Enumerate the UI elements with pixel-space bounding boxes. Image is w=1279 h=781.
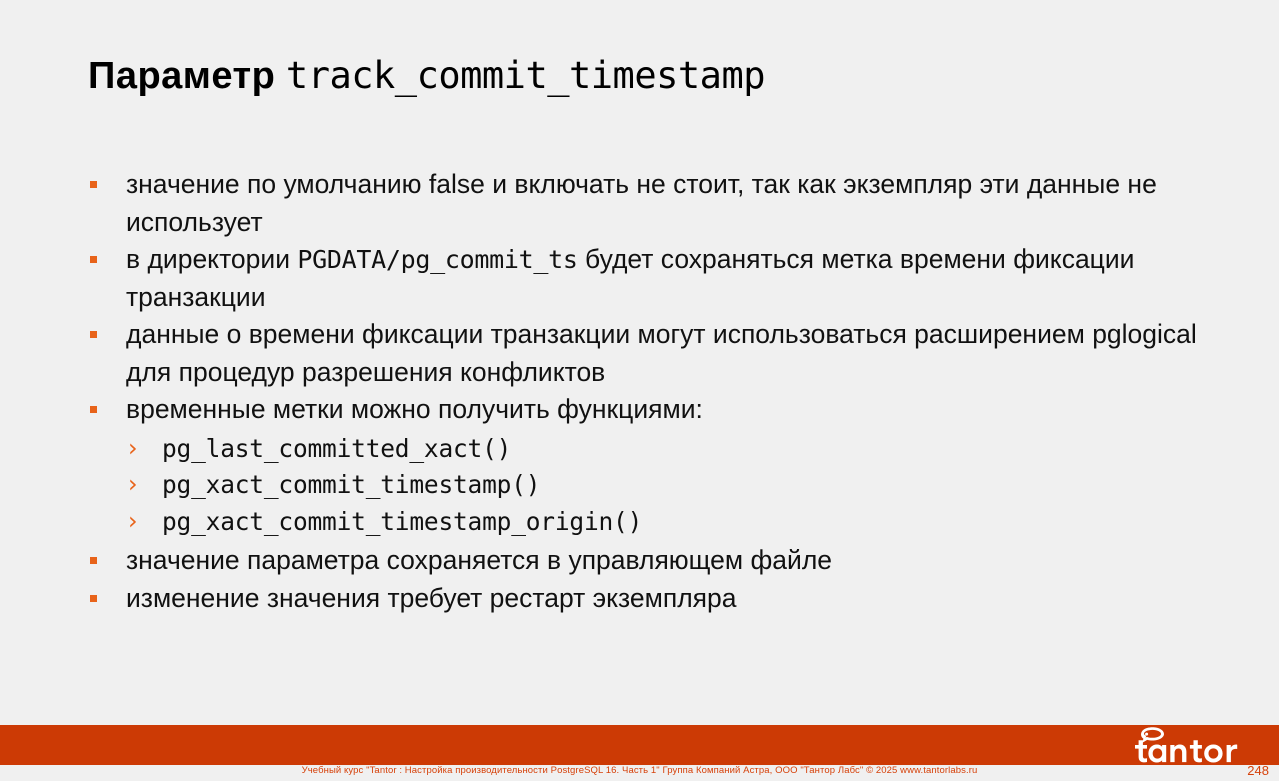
inline-text: значение параметра сохраняется в управля… bbox=[126, 545, 832, 575]
bullet-item: значение параметра сохраняется в управля… bbox=[84, 542, 1204, 580]
chevron-right-icon: › bbox=[128, 504, 138, 540]
bullet-text: данные о времени фиксации транзакции мог… bbox=[126, 316, 1204, 391]
bullet-item: временные метки можно получить функциями… bbox=[84, 391, 1204, 429]
square-bullet-icon bbox=[90, 331, 97, 338]
bullet-text: в директории PGDATA/pg_commit_ts будет с… bbox=[126, 241, 1204, 316]
slide-root: Параметр track_commit_timestamp значение… bbox=[0, 0, 1279, 781]
bullet-text: временные метки можно получить функциями… bbox=[126, 391, 1204, 429]
page-title: Параметр track_commit_timestamp bbox=[88, 52, 765, 100]
page-number: 248 bbox=[1247, 763, 1269, 779]
bullet-list: значение по умолчанию false и включать н… bbox=[84, 166, 1204, 617]
bullet-text: значение по умолчанию false и включать н… bbox=[126, 166, 1204, 241]
inline-text: в директории bbox=[126, 244, 297, 274]
footer-bar bbox=[0, 725, 1279, 765]
sub-bullet-item: ›pg_xact_commit_timestamp_origin() bbox=[84, 504, 1204, 541]
bullet-item: изменение значения требует рестарт экзем… bbox=[84, 580, 1204, 618]
bullet-item: значение по умолчанию false и включать н… bbox=[84, 166, 1204, 241]
square-bullet-icon bbox=[90, 181, 97, 188]
page-title-word: Параметр bbox=[88, 55, 275, 97]
bullet-item: в директории PGDATA/pg_commit_ts будет с… bbox=[84, 241, 1204, 316]
bullet-text: изменение значения требует рестарт экзем… bbox=[126, 580, 1204, 618]
chevron-right-icon: › bbox=[128, 431, 138, 467]
sub-bullet-item: ›pg_xact_commit_timestamp() bbox=[84, 467, 1204, 504]
square-bullet-icon bbox=[90, 406, 97, 413]
sub-bullet-item: ›pg_last_committed_xact() bbox=[84, 431, 1204, 468]
footer-course-note: Учебный курс "Tantor : Настройка произво… bbox=[0, 764, 1279, 778]
inline-text: временные метки можно получить функциями… bbox=[126, 394, 703, 424]
inline-text: данные о времени фиксации транзакции мог… bbox=[126, 319, 1197, 387]
chevron-right-icon: › bbox=[128, 467, 138, 503]
bullet-item: данные о времени фиксации транзакции мог… bbox=[84, 316, 1204, 391]
inline-text: изменение значения требует рестарт экзем… bbox=[126, 583, 737, 613]
tantor-elephant-logo bbox=[1132, 726, 1252, 764]
inline-text: значение по умолчанию false и включать н… bbox=[126, 169, 1157, 237]
page-title-code: track_commit_timestamp bbox=[286, 54, 765, 97]
sub-bullet-list: ›pg_last_committed_xact()›pg_xact_commit… bbox=[84, 431, 1204, 541]
bullet-text: значение параметра сохраняется в управля… bbox=[126, 542, 1204, 580]
square-bullet-icon bbox=[90, 256, 97, 263]
sub-bullet-code: pg_last_committed_xact() bbox=[162, 434, 511, 463]
square-bullet-icon bbox=[90, 595, 97, 602]
sub-bullet-code: pg_xact_commit_timestamp_origin() bbox=[162, 507, 642, 536]
square-bullet-icon bbox=[90, 557, 97, 564]
inline-code: PGDATA/pg_commit_ts bbox=[297, 245, 577, 274]
sub-bullet-code: pg_xact_commit_timestamp() bbox=[162, 470, 540, 499]
